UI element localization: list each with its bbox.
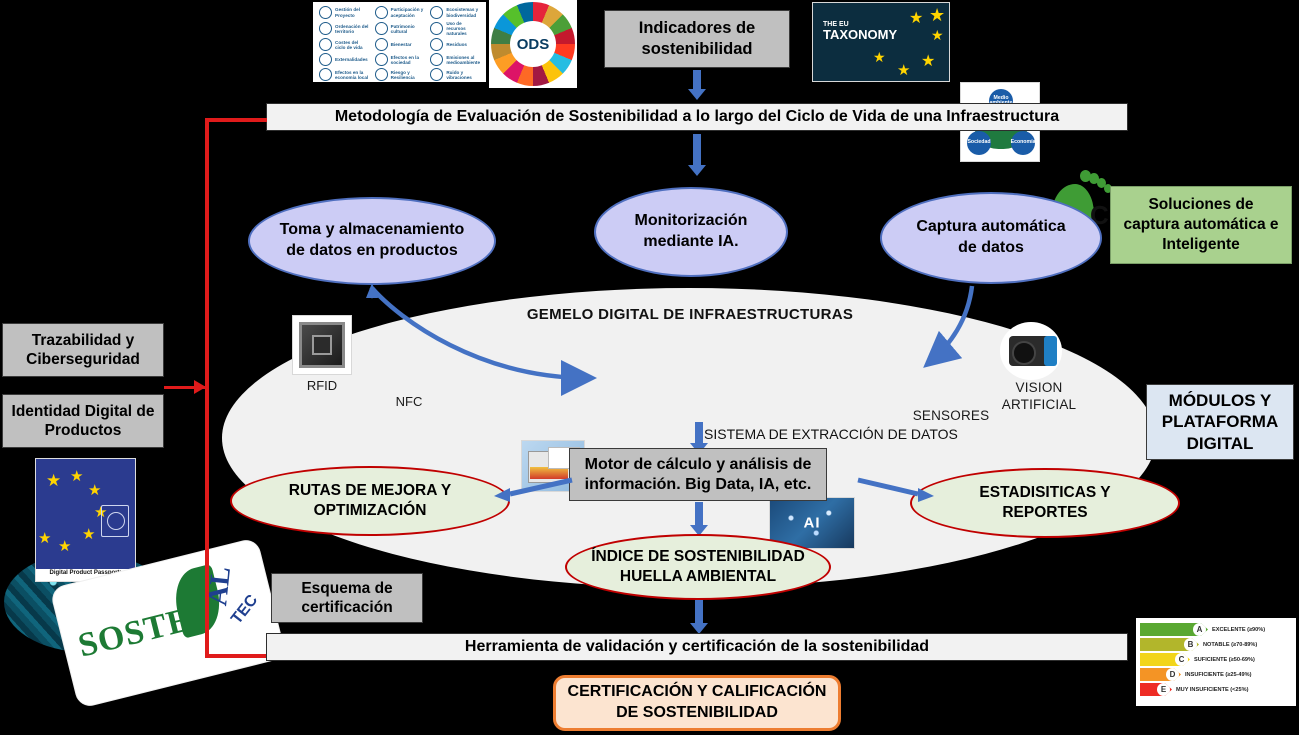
indicator-icon bbox=[319, 68, 332, 81]
star-icon: ★ bbox=[46, 471, 61, 491]
sistema-extraccion-label: SISTEMA DE EXTRACCIÓN DE DATOS bbox=[704, 426, 958, 442]
soluciones-label: Soluciones de captura automática e Intel… bbox=[1119, 195, 1283, 255]
vision-label-text: VISION ARTIFICIAL bbox=[1002, 380, 1077, 412]
indicadores-sostenibilidad-box[interactable]: Indicadores de sostenibilidad bbox=[604, 10, 790, 68]
star-icon: ★ bbox=[897, 61, 910, 79]
rating-bar: A bbox=[1140, 623, 1208, 636]
camera-lens-icon bbox=[1012, 341, 1036, 364]
rating-row: E MUY INSUFICIENTE (<25%) bbox=[1140, 683, 1292, 696]
indicator-icon bbox=[375, 6, 388, 19]
indicator-item: Participación y aceptación bbox=[375, 6, 425, 19]
rfid-chip-image bbox=[292, 315, 352, 375]
digital-product-passport-image: ★ ★ ★ ★ ★ ★ ★ Digital Product Passport: bbox=[35, 458, 136, 582]
indicator-icon bbox=[375, 68, 388, 81]
indicator-item: Costes del ciclo de vida bbox=[319, 38, 369, 51]
venn-right-circle: Economía bbox=[1011, 131, 1035, 155]
rating-row: A EXCELENTE (≥90%) bbox=[1140, 623, 1292, 636]
star-icon: ★ bbox=[58, 537, 71, 555]
rfid-label: RFID bbox=[292, 378, 352, 393]
venn-left-circle: Sociedad bbox=[967, 131, 991, 155]
trazabilidad-ciberseguridad-box[interactable]: Trazabilidad y Ciberseguridad bbox=[2, 323, 164, 377]
certificacion-calificacion-box[interactable]: CERTIFICACIÓN Y CALIFICACIÓN DE SOSTENIB… bbox=[553, 675, 841, 731]
rating-letter: D bbox=[1166, 668, 1179, 681]
esquema-label: Esquema de certificación bbox=[272, 579, 422, 618]
star-icon: ★ bbox=[931, 27, 944, 44]
rutas-label: RUTAS DE MEJORA Y OPTIMIZACIÓN bbox=[258, 481, 482, 521]
indicator-icon bbox=[430, 22, 443, 35]
eu-flag: ★ ★ ★ ★ ★ ★ ★ bbox=[36, 459, 135, 569]
chip-core bbox=[312, 335, 332, 355]
indicators-grid: Gestión del Proyecto Participación y ace… bbox=[319, 6, 480, 81]
indice-label: ÍNDICE DE SOSTENIBILIDAD HUELLA AMBIENTA… bbox=[583, 547, 813, 587]
star-icon: ★ bbox=[88, 481, 101, 499]
indicator-item: Bienestar bbox=[375, 38, 425, 51]
gemelo-digital-title: GEMELO DIGITAL DE INFRAESTRUCTURAS bbox=[460, 306, 920, 323]
venn-right-label: Economía bbox=[1011, 140, 1036, 145]
oval-monitorizacion[interactable]: Monitorización mediante IA. bbox=[594, 187, 788, 277]
oval-monitorizacion-label: Monitorización mediante IA. bbox=[610, 211, 772, 253]
herramienta-label: Herramienta de validación y certificació… bbox=[465, 638, 929, 656]
indicator-icon bbox=[319, 22, 332, 35]
indicator-icon bbox=[319, 53, 332, 66]
arrow-indicadores-to-methodology bbox=[686, 70, 708, 100]
indicator-icon bbox=[430, 6, 443, 19]
indicator-icon bbox=[319, 6, 332, 19]
methodology-banner[interactable]: Metodología de Evaluación de Sostenibili… bbox=[266, 103, 1128, 131]
rating-scale-image: A EXCELENTE (≥90%) B NOTABLE (≥70-89%) C… bbox=[1136, 618, 1296, 706]
star-icon: ★ bbox=[70, 467, 83, 485]
vision-artificial-label: VISION ARTIFICIAL bbox=[994, 380, 1084, 414]
venn-left-label: Sociedad bbox=[967, 140, 990, 145]
oval-indice-sostenibilidad[interactable]: ÍNDICE DE SOSTENIBILIDAD HUELLA AMBIENTA… bbox=[565, 534, 831, 600]
indicator-item: Gestión del Proyecto bbox=[319, 6, 369, 19]
soluciones-captura-box[interactable]: Soluciones de captura automática e Intel… bbox=[1110, 186, 1292, 264]
indicator-item: Uso de recursos naturales bbox=[430, 21, 480, 36]
camera-module bbox=[1044, 336, 1057, 366]
trazabilidad-label: Trazabilidad y Ciberseguridad bbox=[3, 331, 163, 370]
star-icon: ★ bbox=[82, 525, 95, 543]
rating-bar: E bbox=[1140, 683, 1172, 696]
indicadores-label: Indicadores de sostenibilidad bbox=[605, 18, 789, 59]
oval-toma-label: Toma y almacenamiento de datos en produc… bbox=[272, 220, 472, 262]
rating-letter: B bbox=[1184, 638, 1197, 651]
passport-icon bbox=[101, 505, 129, 537]
eu-taxonomy-line2: TAXONOMY bbox=[823, 27, 897, 42]
rating-row: C SUFICIENTE (≥50-69%) bbox=[1140, 653, 1292, 666]
modulos-plataforma-box[interactable]: MÓDULOS Y PLATAFORMA DIGITAL bbox=[1146, 384, 1294, 460]
rating-text: SUFICIENTE (≥50-69%) bbox=[1194, 657, 1255, 663]
indicator-item: Residuos bbox=[430, 38, 480, 51]
rating-letter: E bbox=[1157, 683, 1170, 696]
vision-camera-image bbox=[1000, 322, 1062, 380]
rating-bar: D bbox=[1140, 668, 1181, 681]
red-bracket-arrowhead bbox=[194, 380, 206, 394]
indicator-icon bbox=[375, 38, 388, 51]
identidad-digital-box[interactable]: Identidad Digital de Productos bbox=[2, 394, 164, 448]
ods-wheel: ODS bbox=[491, 2, 575, 86]
oval-captura-label: Captura automática de datos bbox=[906, 217, 1076, 259]
rating-bar: C bbox=[1140, 653, 1190, 666]
motor-branch-arrows bbox=[480, 460, 950, 520]
identidad-label: Identidad Digital de Productos bbox=[3, 402, 163, 441]
indicator-item: Ruido y vibraciones bbox=[430, 68, 480, 81]
modulos-label: MÓDULOS Y PLATAFORMA DIGITAL bbox=[1147, 390, 1293, 454]
rating-row: B NOTABLE (≥70-89%) bbox=[1140, 638, 1292, 651]
red-bracket-top bbox=[205, 118, 267, 122]
indicator-icon bbox=[319, 38, 332, 51]
star-icon: ★ bbox=[38, 529, 51, 547]
indicator-item: Riesgo y Resiliencia bbox=[375, 68, 425, 81]
oval-toma-almacenamiento[interactable]: Toma y almacenamiento de datos en produc… bbox=[248, 197, 496, 285]
indicator-item: Externalidades bbox=[319, 53, 369, 66]
methodology-title: Metodología de Evaluación de Sostenibili… bbox=[335, 108, 1059, 126]
indicator-item: Patrimonio cultural bbox=[375, 21, 425, 36]
oval-captura-automatica[interactable]: Captura automática de datos bbox=[880, 192, 1102, 284]
rating-text: EXCELENTE (≥90%) bbox=[1212, 627, 1265, 633]
rating-text: NOTABLE (≥70-89%) bbox=[1203, 642, 1257, 648]
esquema-certificacion-box[interactable]: Esquema de certificación bbox=[271, 573, 423, 623]
indicator-icon bbox=[430, 68, 443, 81]
arrow-methodology-to-monitorizacion bbox=[686, 134, 708, 178]
star-icon: ★ bbox=[873, 49, 886, 66]
eu-taxonomy-text: THE EU TAXONOMY bbox=[823, 21, 897, 42]
rating-text: MUY INSUFICIENTE (<25%) bbox=[1176, 687, 1248, 693]
indicator-item: Efectos en la sociedad bbox=[375, 53, 425, 66]
rating-row: D INSUFICIENTE (≥25-49%) bbox=[1140, 668, 1292, 681]
indicator-icon bbox=[375, 53, 388, 66]
herramienta-validacion-bar[interactable]: Herramienta de validación y certificació… bbox=[266, 633, 1128, 661]
star-icon: ★ bbox=[921, 51, 935, 71]
oval-rutas-mejora[interactable]: RUTAS DE MEJORA Y OPTIMIZACIÓN bbox=[230, 466, 510, 536]
indicator-item: Efectos en la economía local bbox=[319, 68, 369, 81]
rating-letter: A bbox=[1193, 623, 1206, 636]
certificacion-label: CERTIFICACIÓN Y CALIFICACIÓN DE SOSTENIB… bbox=[566, 682, 828, 724]
estadisticas-label: ESTADISITICAS Y REPORTES bbox=[936, 483, 1154, 523]
rating-bar: B bbox=[1140, 638, 1199, 651]
indicator-icon bbox=[430, 53, 443, 66]
red-bracket-bottom bbox=[205, 654, 267, 658]
star-icon: ★ bbox=[929, 5, 945, 26]
indicator-item: Ordenación del territorio bbox=[319, 21, 369, 36]
indicator-item: Ecosistemas y biodiversidad bbox=[430, 6, 480, 19]
eu-taxonomy-image: THE EU TAXONOMY ★ ★ ★ ★ ★ ★ bbox=[812, 2, 950, 82]
ods-wheel-image: ODS bbox=[489, 0, 577, 88]
indicator-icon bbox=[430, 38, 443, 51]
oval-estadisticas-reportes[interactable]: ESTADISITICAS Y REPORTES bbox=[910, 468, 1180, 538]
indicator-item: Emisiones al medioambiente bbox=[430, 53, 480, 66]
chip-inner bbox=[299, 322, 346, 369]
star-icon: ★ bbox=[909, 8, 923, 28]
diagram-canvas: Gestión del Proyecto Participación y ace… bbox=[0, 0, 1299, 735]
arrow-indice-to-herramienta bbox=[688, 600, 710, 636]
indicator-icon bbox=[375, 22, 388, 35]
rating-letter: C bbox=[1175, 653, 1188, 666]
indicators-card: Gestión del Proyecto Participación y ace… bbox=[313, 2, 486, 82]
ods-label: ODS bbox=[510, 21, 556, 67]
rating-text: INSUFICIENTE (≥25-49%) bbox=[1185, 672, 1251, 678]
camera-body bbox=[1009, 336, 1052, 366]
sensores-label: SENSORES bbox=[908, 408, 994, 423]
nfc-label: NFC bbox=[378, 394, 440, 409]
